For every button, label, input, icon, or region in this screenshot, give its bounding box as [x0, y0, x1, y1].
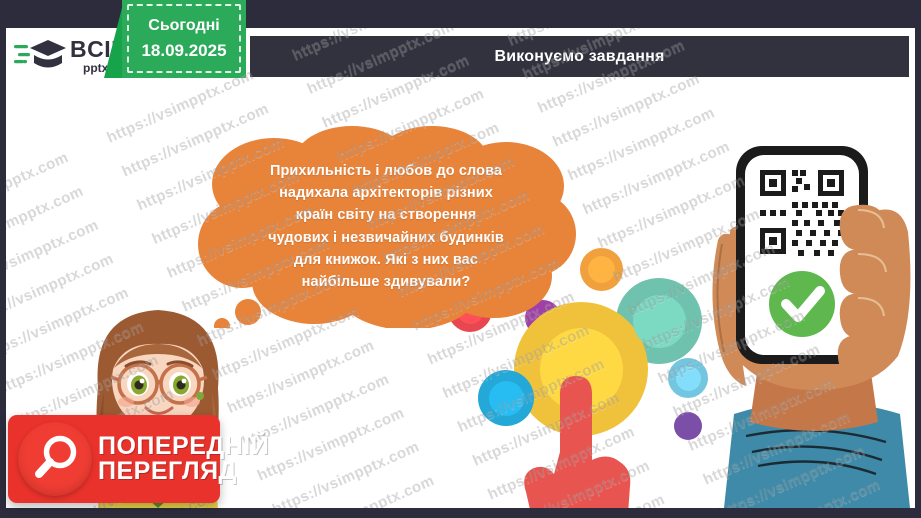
watermark-text: https://vsimpptx.com: [6, 149, 71, 229]
bubble-line: для книжок. Які з них вас: [212, 249, 560, 271]
bubble-line: Прихильність і любов до слова: [212, 160, 560, 182]
graduation-cap-icon: [14, 36, 66, 76]
preview-badge-text: ПОПЕРЕДНІЙ ПЕРЕГЛЯД: [98, 434, 269, 485]
bubble-line: країн світу на створення: [212, 204, 560, 226]
preview-badge[interactable]: ПОПЕРЕДНІЙ ПЕРЕГЛЯД: [8, 415, 220, 503]
frame-right: [915, 0, 921, 518]
check-circle-icon: [769, 271, 835, 337]
circle-violet: [674, 412, 702, 440]
slide-header-bar: Виконуємо завдання: [250, 36, 909, 77]
preview-badge-line2: ПЕРЕГЛЯД: [98, 459, 269, 485]
watermark-text: https://vsimpptx.com: [285, 472, 437, 508]
frame-bottom: [0, 508, 921, 518]
thought-bubble-text: Прихильність і любов до слова надихала а…: [212, 160, 560, 293]
bubble-line: чудових і незвичайних будинків: [212, 227, 560, 249]
slide-title: Виконуємо завдання: [495, 48, 665, 66]
preview-badge-line1: ПОПЕРЕДНІЙ: [98, 434, 269, 460]
bubble-line: найбільше здивували?: [212, 271, 560, 293]
watermark-text: https://vsimpptx.com: [255, 404, 407, 484]
circle-skyblue-inner: [676, 366, 701, 391]
slide-viewer: Прихильність і любов до слова надихала а…: [0, 0, 921, 518]
watermark-text: https://vsimpptx.com: [6, 217, 101, 297]
bubble-line: надихала архітекторів різних: [212, 182, 560, 204]
watermark-text: https://vsimpptx.com: [6, 183, 86, 263]
date-badge: Сьогодні 18.09.2025: [122, 0, 246, 78]
hand-holding-phone: [700, 114, 915, 508]
magnifier-icon: [18, 422, 92, 496]
circle-teal-inner: [633, 295, 686, 348]
watermark-text: https://vsimpptx.com: [565, 104, 717, 184]
frame-left: [0, 0, 6, 518]
circle-cyan-inner: [489, 381, 524, 416]
circle-orange-inner: [588, 256, 615, 283]
date-badge-label: Сьогодні: [148, 17, 219, 35]
pointing-hand-cursor: [522, 356, 654, 508]
watermark-text: https://vsimpptx.com: [270, 438, 422, 508]
date-badge-value: 18.09.2025: [141, 41, 226, 61]
